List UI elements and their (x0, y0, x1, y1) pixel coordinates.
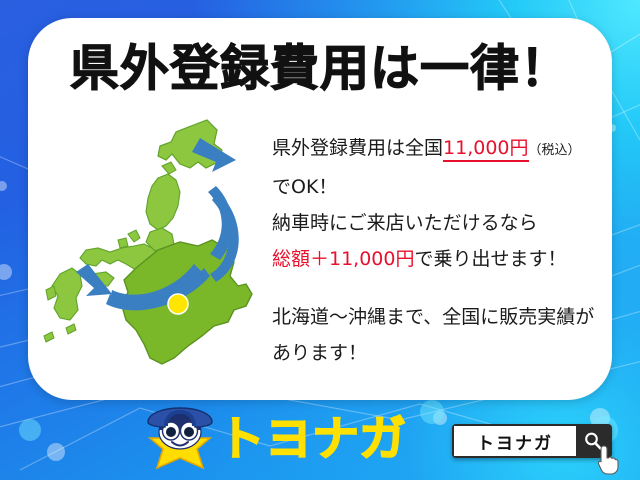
japan-map-svg (40, 114, 280, 384)
toyonaga-mascot-icon (140, 404, 220, 478)
copy-line-5: 北海道〜沖縄まで、全国に販売実績が (272, 299, 602, 335)
copy-line-1: 県外登録費用は全国11,000円（税込） (272, 130, 602, 169)
copy-line-4-suffix: で乗り出せます！ (414, 248, 566, 270)
copy-line-1-prefix: 県外登録費用は全国 (272, 137, 443, 159)
brand-name: トヨナガ (218, 414, 406, 466)
map-region-kyushu (46, 268, 82, 320)
map-region-honshu-north (146, 174, 180, 252)
banner-root: 県外登録費用は一律！ (0, 0, 640, 480)
content-card: 県外登録費用は一律！ (28, 18, 612, 400)
search-input[interactable]: トヨナガ (454, 426, 576, 456)
total-price-highlight: 総額＋11,000円 (272, 248, 414, 270)
price-highlight: 11,000円 (443, 137, 528, 162)
copy-line-3: 納車時にご来店いただけるなら (272, 205, 602, 241)
hand-pointer-icon (596, 444, 622, 476)
copy-line-6: あります！ (272, 335, 602, 371)
search-widget[interactable]: トヨナガ (452, 424, 612, 458)
copy-line-4: 総額＋11,000円で乗り出せます！ (272, 241, 602, 277)
page-title: 県外登録費用は一律！ (28, 40, 612, 98)
japan-map-illustration (40, 114, 280, 384)
body-copy: 県外登録費用は全国11,000円（税込） でOK！ 納車時にご来店いただけるなら… (272, 130, 602, 371)
map-region-islands (44, 324, 76, 342)
tax-note: （税込） (529, 143, 581, 158)
store-location-marker (168, 294, 188, 314)
brand-logo: トヨナガ (140, 404, 430, 478)
copy-spacer (272, 277, 602, 299)
copy-line-2: でOK！ (272, 169, 602, 205)
